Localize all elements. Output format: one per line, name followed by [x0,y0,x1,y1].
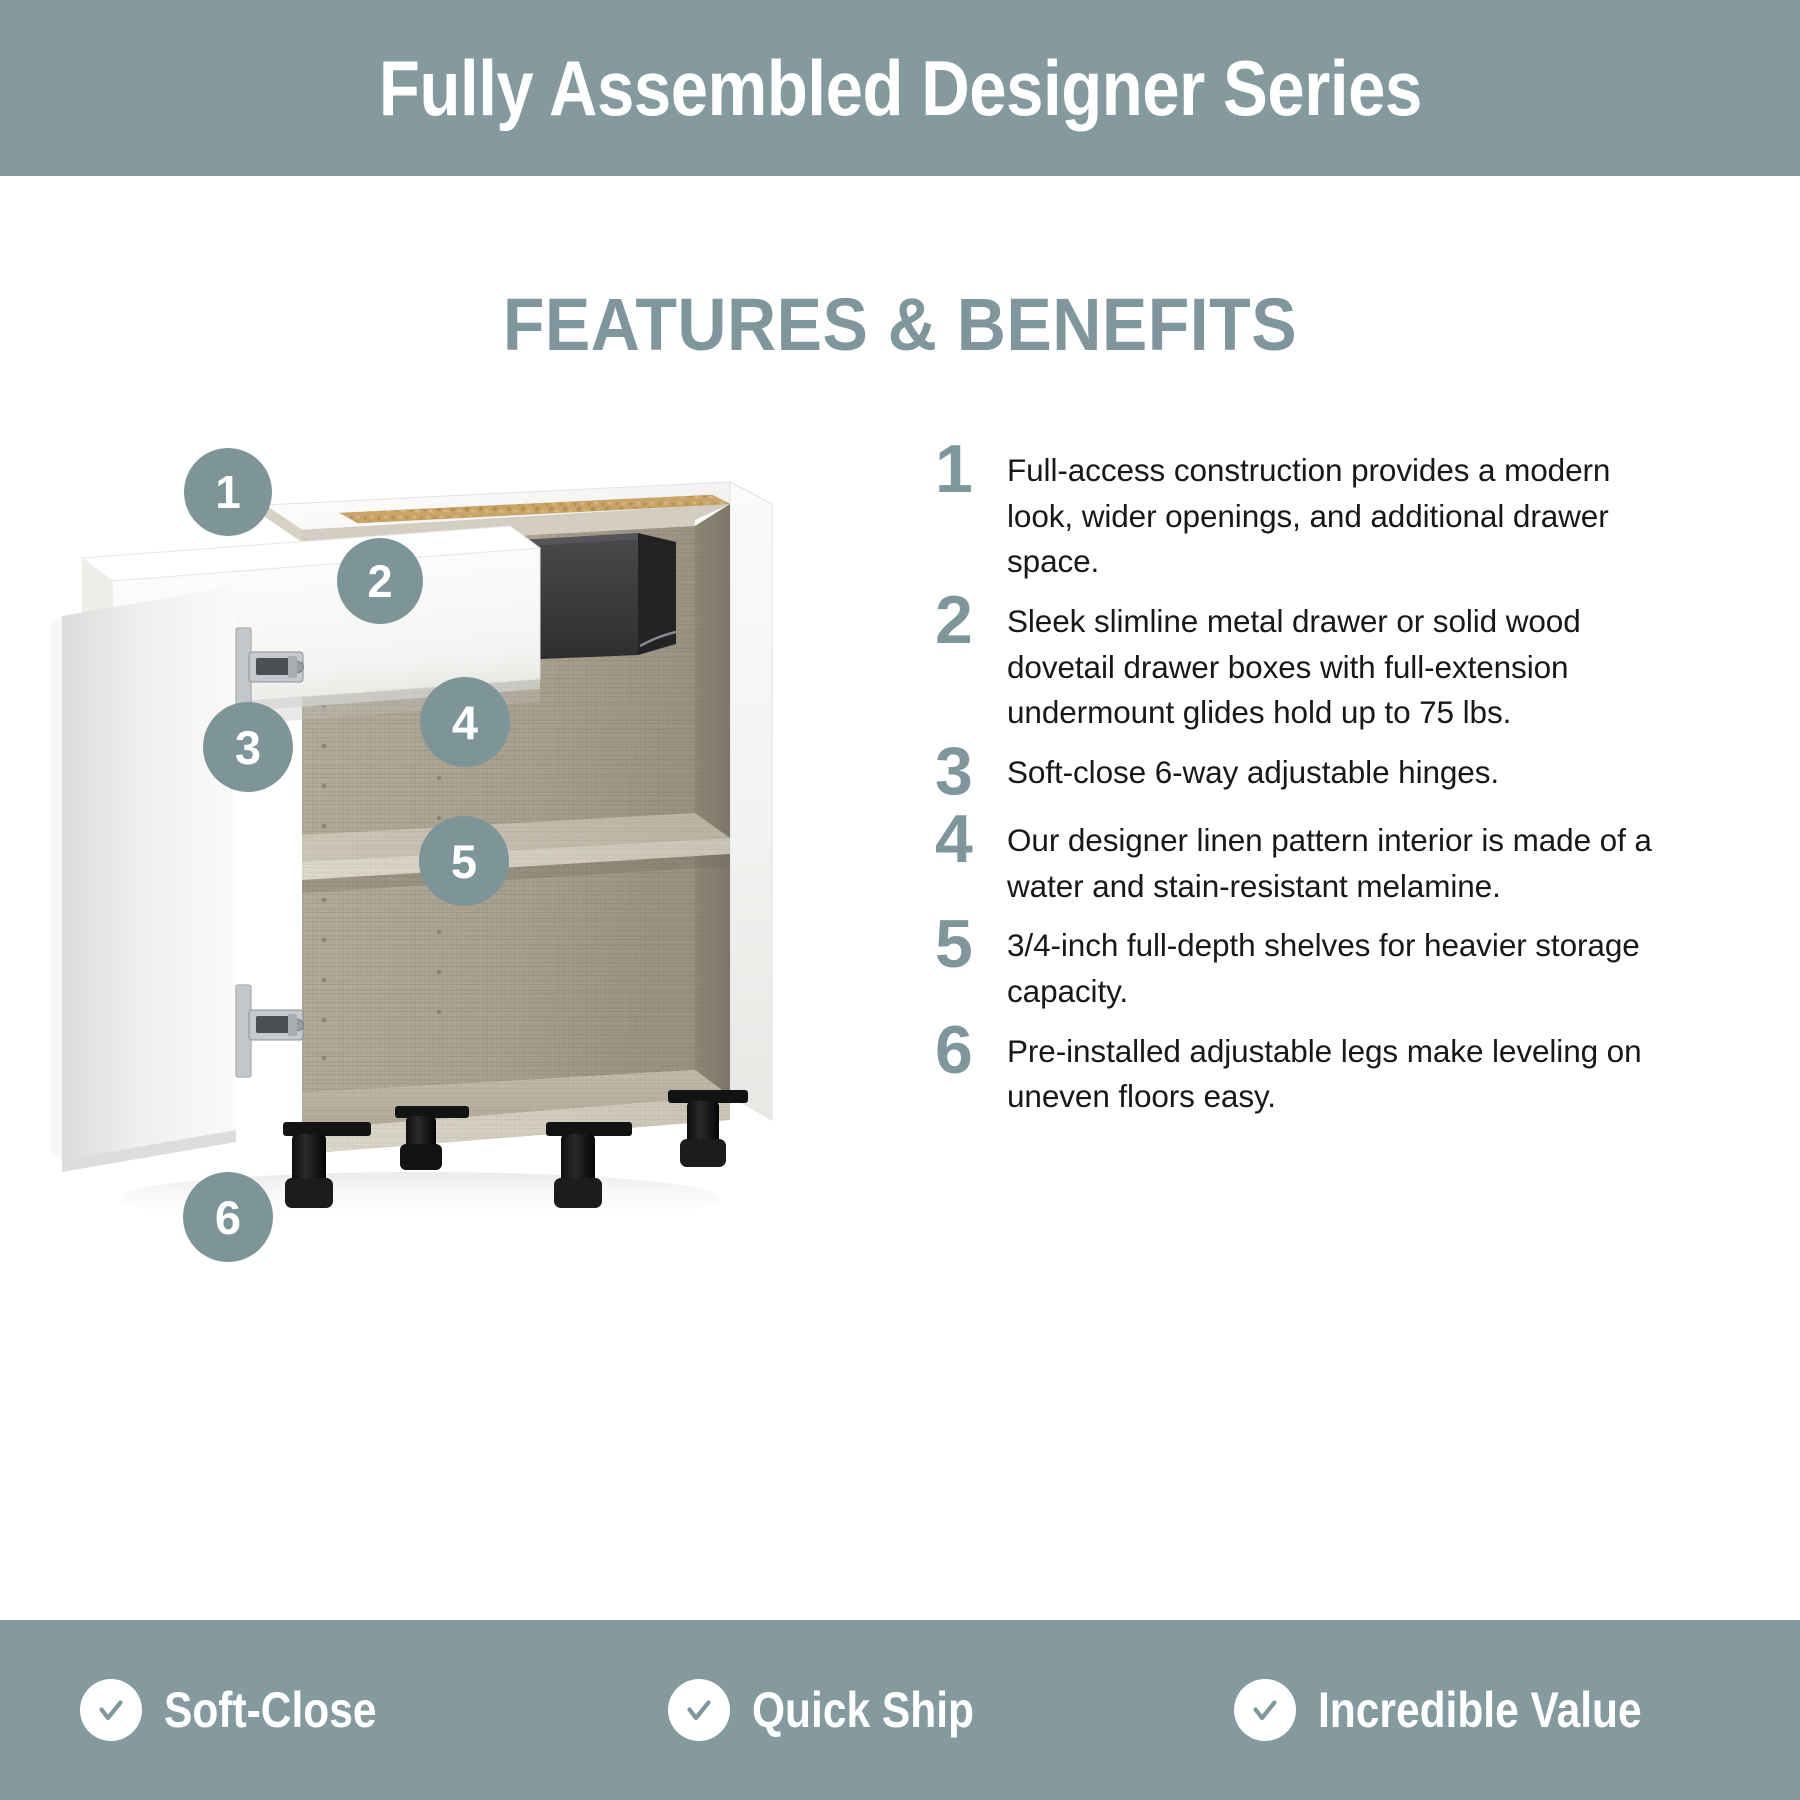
feature-item-2: 2 Sleek slimline metal drawer or solid w… [935,599,1675,736]
feature-text-2: Sleek slimline metal drawer or solid woo… [1007,599,1675,736]
section-heading: FEATURES & BENEFITS [72,288,1728,362]
footer-badge-label-3: Incredible Value [1318,1685,1642,1735]
callout-badge-6-label: 6 [215,1194,241,1241]
product-illustration: 1 2 3 4 5 6 [40,430,810,1340]
feature-number-2: 2 [935,589,1007,653]
feature-number-6: 6 [935,1019,1007,1083]
feature-item-4: 4 Our designer linen pattern interior is… [935,818,1675,909]
feature-text-4: Our designer linen pattern interior is m… [1007,818,1675,909]
feature-text-3: Soft-close 6-way adjustable hinges. [1007,750,1675,796]
features-list: 1 Full-access construction provides a mo… [935,448,1675,1134]
check-icon [668,1679,730,1741]
callout-badge-2: 2 [337,538,423,624]
callout-badge-3: 3 [203,702,293,792]
footer-badge-quick-ship: Quick Ship [646,1679,1234,1741]
feature-text-5: 3/4-inch full-depth shelves for heavier … [1007,923,1675,1014]
footer-badge-label-1: Soft-Close [164,1685,377,1735]
callout-badge-1: 1 [184,448,272,536]
callout-badge-4-label: 4 [452,699,478,746]
feature-text-6: Pre-installed adjustable legs make level… [1007,1029,1675,1120]
check-icon [1234,1679,1296,1741]
feature-number-5: 5 [935,913,1007,977]
footer-badge-label-2: Quick Ship [752,1685,974,1735]
hinge-lower [236,985,304,1077]
page-title: Fully Assembled Designer Series [379,49,1422,127]
infographic-page: Fully Assembled Designer Series FEATURES… [0,0,1800,1800]
feature-item-6: 6 Pre-installed adjustable legs make lev… [935,1029,1675,1120]
callout-badge-1-label: 1 [215,469,241,515]
feature-text-1: Full-access construction provides a mode… [1007,448,1675,585]
callout-badge-3-label: 3 [235,724,261,771]
callout-badge-6: 6 [183,1172,273,1262]
feature-number-3: 3 [935,740,1007,804]
feature-item-1: 1 Full-access construction provides a mo… [935,448,1675,585]
feature-item-5: 5 3/4-inch full-depth shelves for heavie… [935,923,1675,1014]
footer-badge-incredible-value: Incredible Value [1234,1679,1800,1741]
callout-badge-4: 4 [420,677,510,767]
callout-badge-5: 5 [419,816,509,906]
feature-item-3: 3 Soft-close 6-way adjustable hinges. [935,750,1675,804]
header-bar: Fully Assembled Designer Series [0,0,1800,176]
callout-badge-2-label: 2 [367,559,392,604]
footer-badge-soft-close: Soft-Close [0,1679,646,1741]
footer-bar: Soft-Close Quick Ship Incredible Value [0,1620,1800,1800]
feature-number-1: 1 [935,438,1007,502]
callout-badge-5-label: 5 [451,838,477,885]
check-icon [80,1679,142,1741]
feature-number-4: 4 [935,808,1007,872]
